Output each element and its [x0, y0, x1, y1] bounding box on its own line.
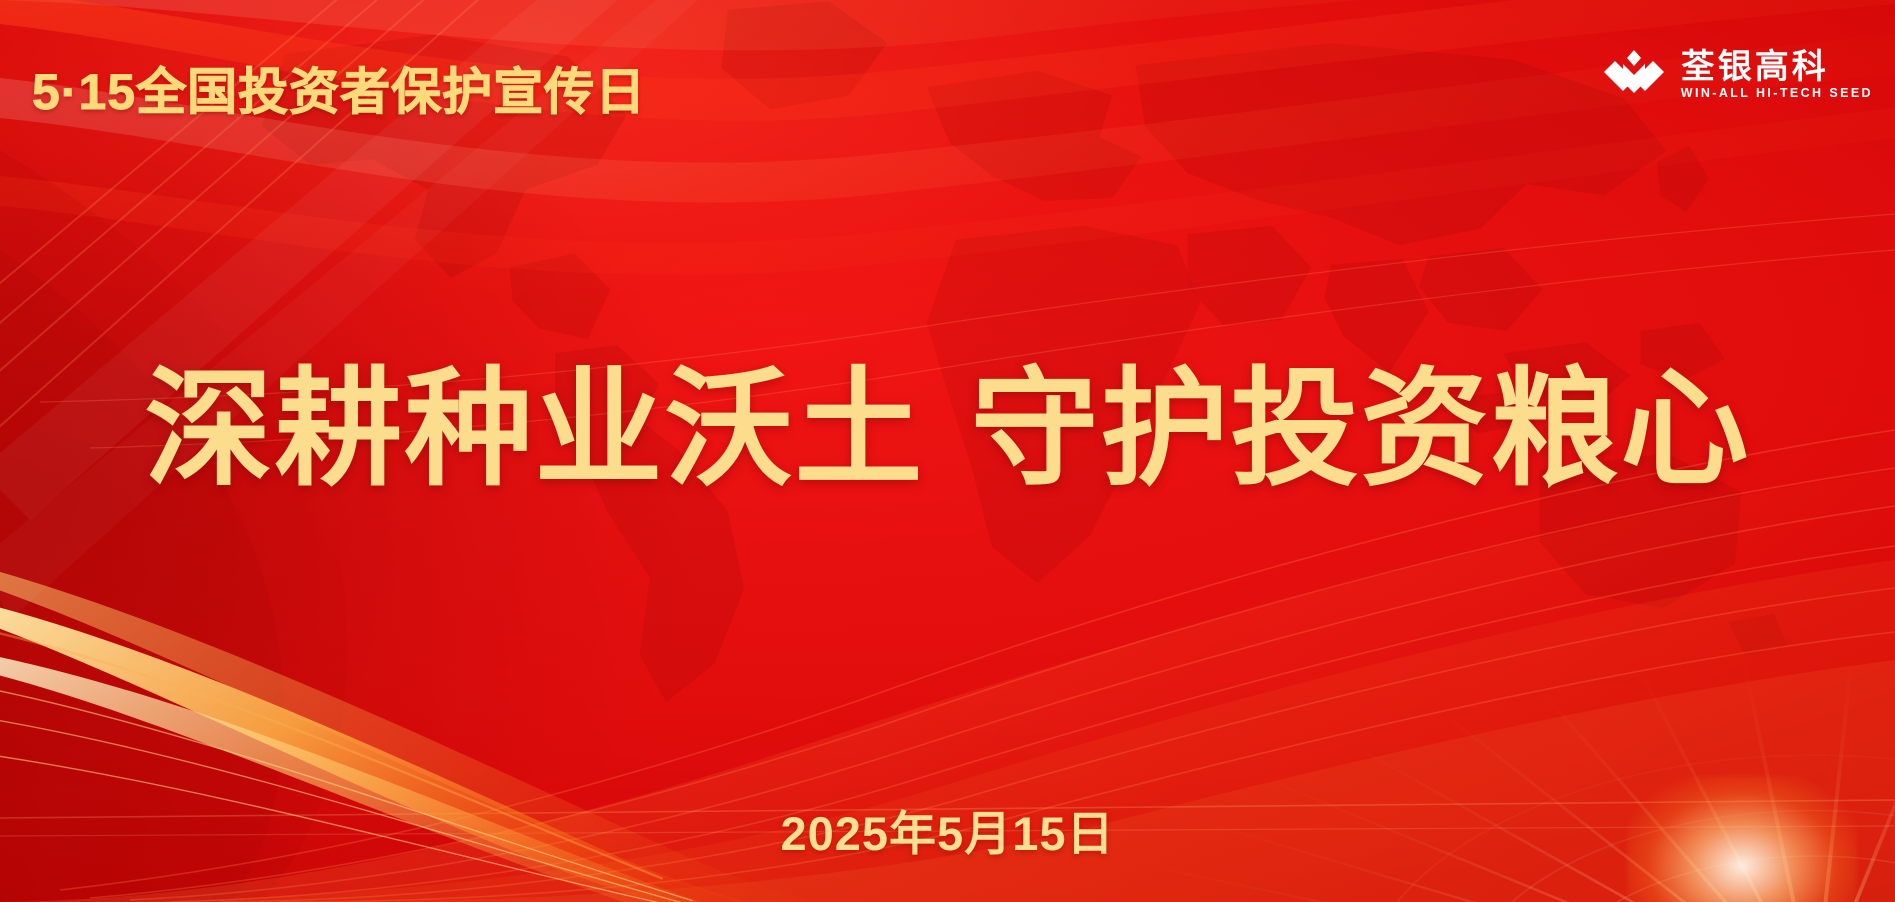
logo-name-en: WIN-ALL HI-TECH SEED: [1681, 87, 1873, 100]
main-headline: 深耕种业沃土守护投资粮心: [0, 352, 1895, 508]
promotional-banner: 5·15全国投资者保护宣传日 荃银高科 WIN-ALL HI-TECH SEED: [0, 0, 1895, 902]
headline-part-2: 守护投资粮心: [971, 358, 1751, 501]
logo-text-block: 荃银高科 WIN-ALL HI-TECH SEED: [1681, 50, 1873, 100]
company-logo: 荃银高科 WIN-ALL HI-TECH SEED: [1601, 48, 1873, 102]
event-date: 2025年5月15日: [0, 795, 1895, 864]
logo-name-cn: 荃银高科: [1681, 50, 1873, 84]
event-title: 5·15全国投资者保护宣传日: [32, 52, 646, 124]
headline-part-1: 深耕种业沃土: [144, 358, 924, 501]
winall-sprout-icon: [1601, 48, 1667, 102]
